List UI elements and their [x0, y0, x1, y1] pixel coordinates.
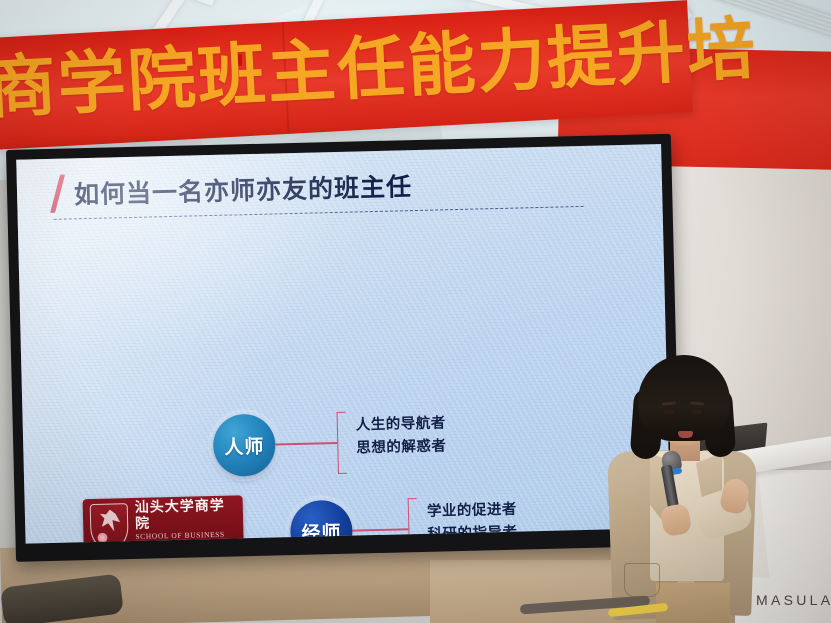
node-text-block-1: 人生的导航者 思想的解惑者	[356, 412, 447, 460]
slash-accent-icon	[50, 175, 65, 213]
school-crest-icon	[90, 503, 129, 544]
podium-brand-label: MASULAND	[756, 592, 831, 608]
speaker-jacket-pocket	[624, 563, 660, 597]
bracket-1	[336, 412, 347, 474]
bracket-2	[408, 498, 418, 544]
ceiling-beam-6	[24, 0, 216, 6]
slide-title-row: 如何当一名亦师亦友的班主任	[55, 166, 413, 213]
node-circle-2: 经师	[290, 500, 353, 544]
school-name-cn: 汕头大学商学院	[135, 497, 237, 531]
speaker-trousers	[656, 583, 730, 623]
school-name-en-1: SCHOOL OF BUSINESS	[135, 529, 236, 541]
node-text-block-2: 学业的促进者 科研的指导者	[427, 499, 518, 544]
speaker-person	[600, 355, 760, 623]
display-screen: 如何当一名亦师亦友的班主任 人师 人生的导航者 思想的解惑者 经师	[6, 134, 681, 562]
node-line-1-2: 思想的解惑者	[356, 435, 447, 460]
slide-title: 如何当一名亦师亦友的班主任	[74, 167, 413, 211]
node-label-1: 人师	[224, 431, 265, 459]
speaker-hair-top	[638, 355, 730, 441]
slide-surface: 如何当一名亦师亦友的班主任 人师 人生的导航者 思想的解惑者 经师	[16, 144, 670, 544]
speaker-mouth	[678, 431, 693, 438]
school-logo-plate: 汕头大学商学院 SCHOOL OF BUSINESS SHANTOU UNIVE…	[83, 495, 244, 543]
speaker-eye-right	[692, 410, 702, 414]
node-line-2-2: 科研的指导者	[427, 522, 518, 544]
connector-line-2	[352, 528, 408, 531]
node-line-2-1: 学业的促进者	[427, 499, 518, 524]
school-logo-texts: 汕头大学商学院 SCHOOL OF BUSINESS SHANTOU UNIVE…	[135, 497, 237, 543]
speaker-eye-left	[664, 410, 674, 414]
slide-content: 如何当一名亦师亦友的班主任 人师 人生的导航者 思想的解惑者 经师	[16, 144, 670, 544]
presentation-photo: 商学院班主任能力提升培 如何当一名亦师亦友的班主任 人师 人生的导航者 思想的解…	[0, 0, 831, 623]
node-line-1-1: 人生的导航者	[356, 412, 447, 437]
connector-line-1	[275, 442, 337, 445]
node-circle-1: 人师	[213, 414, 276, 477]
node-label-2: 经师	[301, 517, 342, 543]
